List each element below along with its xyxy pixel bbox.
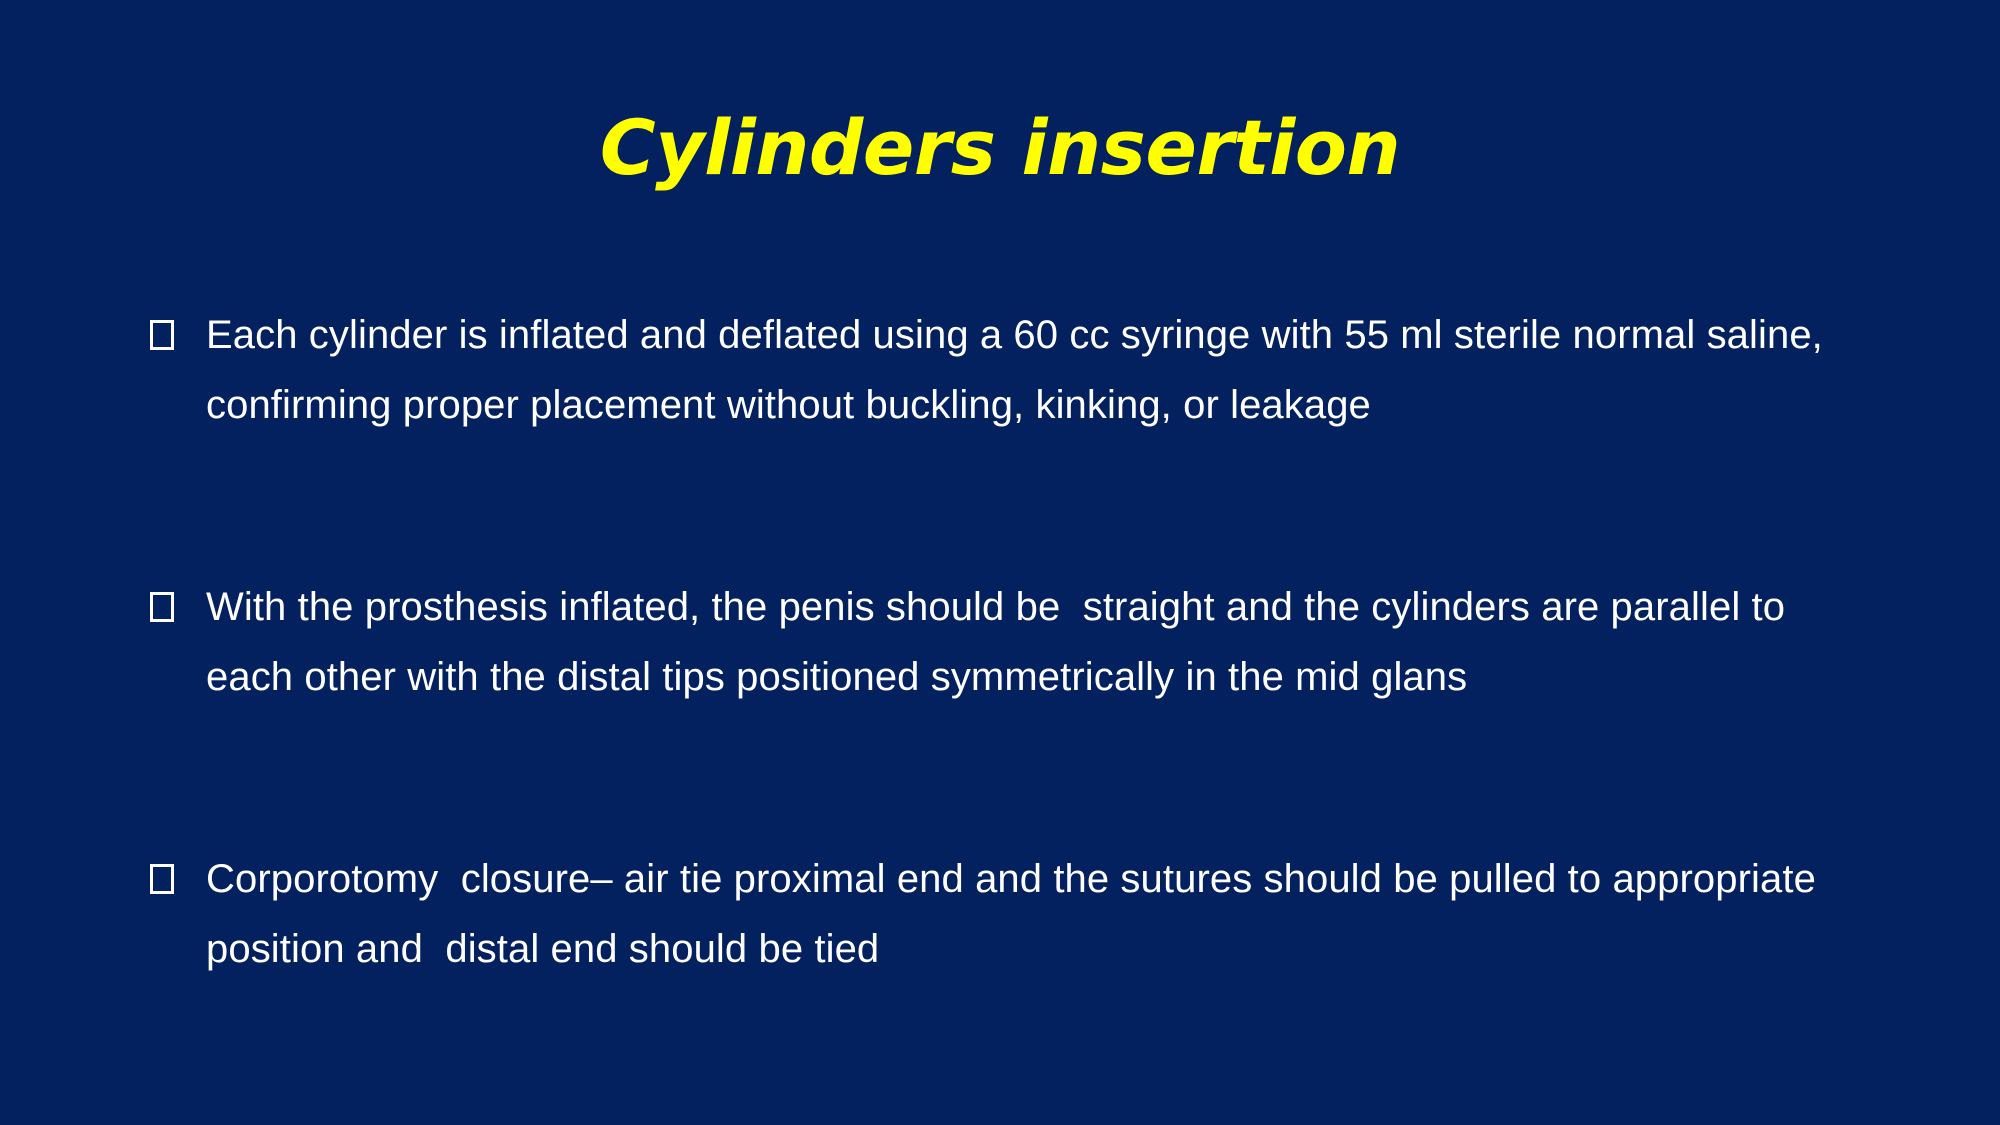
box-bullet-icon	[150, 592, 174, 622]
bullet-text: With the prosthesis inflated, the penis …	[206, 572, 1870, 712]
list-item: Each cylinder is inflated and deflated u…	[150, 300, 1870, 440]
presentation-slide: Cylinders insertion Each cylinder is inf…	[0, 0, 2000, 1125]
bullet-text: Each cylinder is inflated and deflated u…	[206, 300, 1870, 440]
slide-title: Cylinders insertion	[0, 108, 2000, 188]
list-item: Corporotomy closure– air tie proximal en…	[150, 844, 1870, 984]
box-bullet-icon	[150, 864, 174, 894]
box-bullet-icon	[150, 320, 174, 350]
list-item: With the prosthesis inflated, the penis …	[150, 572, 1870, 712]
slide-body: Each cylinder is inflated and deflated u…	[150, 300, 1870, 984]
bullet-text: Corporotomy closure– air tie proximal en…	[206, 844, 1870, 984]
